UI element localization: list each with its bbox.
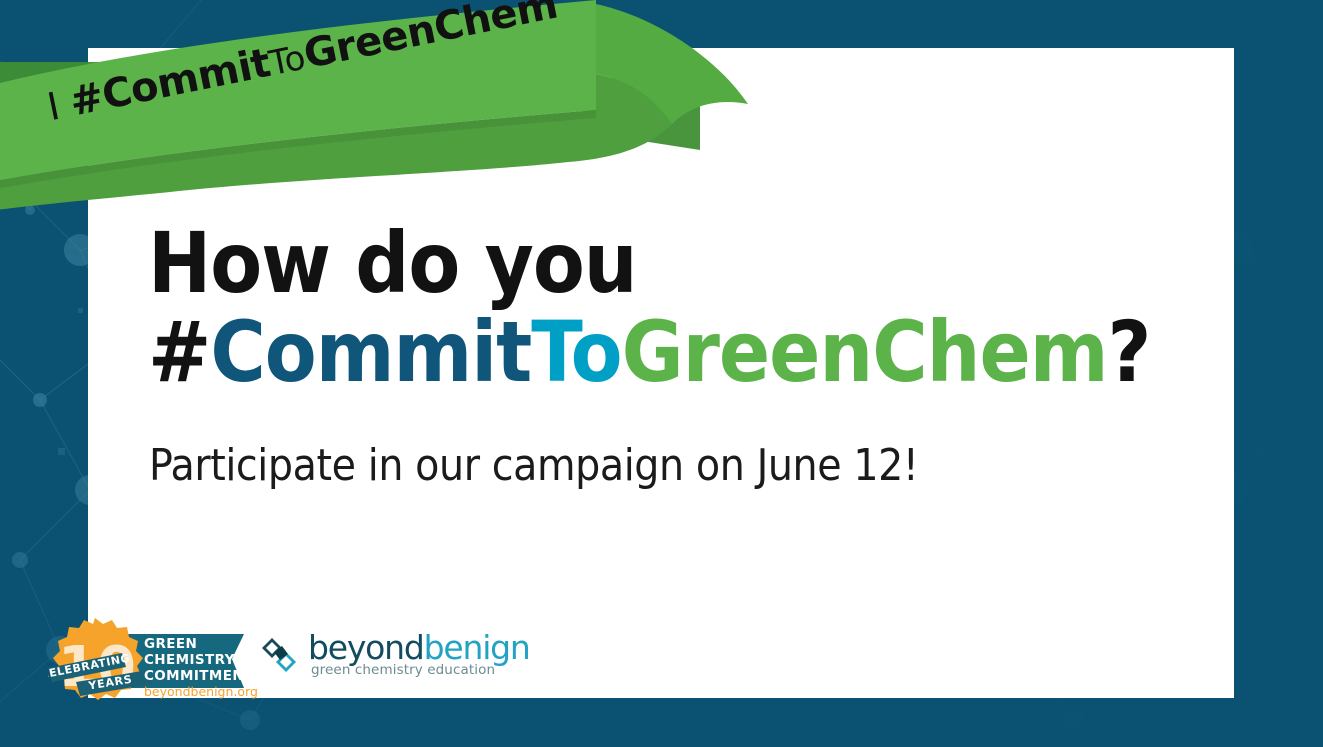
gcc-line-3: COMMITMENT: [144, 668, 254, 684]
headline-commit: Commit: [210, 303, 531, 401]
headline-question: ?: [1108, 303, 1151, 401]
beyond-benign-wordmark: beyondbenign: [308, 631, 530, 664]
gcc-line-1: GREEN: [144, 636, 197, 652]
headline-line-2: #CommitToGreenChem?: [148, 311, 1178, 394]
headline-block: How do you #CommitToGreenChem?: [148, 222, 1178, 394]
subtitle: Participate in our campaign on June 12!: [149, 442, 918, 490]
beyond-benign-mark-icon: [256, 632, 304, 682]
slide-canvas: I #CommitToGreenChem How do you #CommitT…: [0, 0, 1323, 747]
gcc-line-2: CHEMISTRY: [144, 652, 235, 668]
footer-logos: 10 CELEBRATING YEARS GREEN CHEMISTRY COM…: [48, 612, 518, 722]
beyond-benign-logo: beyondbenign green chemistry education: [256, 630, 516, 682]
headline-to: To: [531, 303, 621, 401]
beyond-benign-tagline: green chemistry education: [311, 662, 495, 678]
gcc-url: beyondbenign.org: [144, 684, 258, 699]
headline-greenchem: GreenChem: [622, 303, 1108, 401]
headline-line-1: How do you: [148, 222, 1178, 305]
headline-hash: #: [148, 303, 210, 401]
